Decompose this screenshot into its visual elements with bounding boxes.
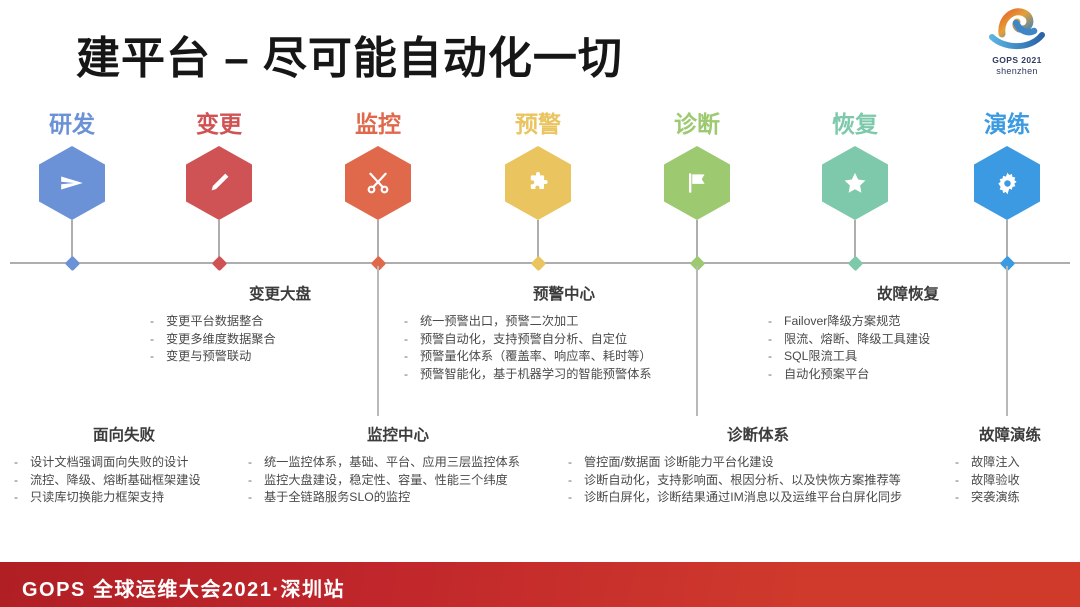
bullet-dash: - [568,472,584,490]
bullet-dash: - [404,348,420,366]
bullet-text: 管控面/数据面 诊断能力平台化建设 [584,454,774,472]
bullet-text: 故障注入 [971,454,1020,472]
timeline-label-2: 监控 [318,105,438,139]
bullet-dash: - [14,454,30,472]
timeline-hexagon-4[interactable] [664,146,730,220]
timeline-label-4: 诊断 [637,105,757,139]
block-title: 面向失败 [14,423,234,445]
bullet-dash: - [248,489,264,507]
logo-swirl-icon [986,4,1048,54]
bullet-dash: - [404,366,420,384]
bullet-dash: - [955,472,971,490]
bullet-dash: - [768,313,784,331]
bullet-item: -自动化预案平台 [768,366,1048,384]
block-title: 预警中心 [404,282,724,304]
bullet-text: 监控大盘建设，稳定性、容量、性能三个纬度 [264,472,508,490]
bullet-text: 预警量化体系（覆盖率、响应率、耗时等） [420,348,652,366]
upper-block-1: 预警中心 -统一预警出口，预警二次加工-预警自动化，支持预警自分析、自定位-预警… [404,282,724,383]
send-icon [59,170,85,196]
timeline-label-0: 研发 [12,105,132,139]
bullet-item: -故障注入 [955,454,1065,472]
bullet-item: -变更多维度数据聚合 [150,331,410,349]
bullet-item: -诊断自动化，支持影响面、根因分析、以及快恢方案推荐等 [568,472,948,490]
bullet-text: 只读库切换能力框架支持 [30,489,164,507]
bullet-item: -预警自动化，支持预警自分析、自定位 [404,331,724,349]
bullet-item: -限流、熔断、降级工具建设 [768,331,1048,349]
bullet-list: -管控面/数据面 诊断能力平台化建设-诊断自动化，支持影响面、根因分析、以及快恢… [568,454,948,507]
timeline-dot-3[interactable] [530,255,546,271]
bullet-item: -流控、降级、熔断基础框架建设 [14,472,234,490]
footer-bar: GOPS 全球运维大会2021·深圳站 [0,562,1080,607]
bullet-text: 诊断白屏化，诊断结果通过IM消息以及运维平台白屏化同步 [584,489,902,507]
bullet-item: -变更平台数据整合 [150,313,410,331]
timeline-hexagon-0[interactable] [39,146,105,220]
bullet-item: -监控大盘建设，稳定性、容量、性能三个纬度 [248,472,548,490]
footer-text: GOPS 全球运维大会2021·深圳站 [22,573,345,602]
lower-block-3: 故障演练 -故障注入-故障验收-突袭演练 [955,423,1065,507]
star-icon [842,170,868,196]
timeline-hexagon-3[interactable] [505,146,571,220]
logo-title: GOPS 2021 [982,55,1052,65]
timeline-label-3: 预警 [478,105,598,139]
bullet-text: 变更平台数据整合 [166,313,264,331]
block-title: 诊断体系 [568,423,948,445]
bullet-dash: - [14,472,30,490]
page-title: 建平台 – 尽可能自动化一切 [76,22,623,86]
bullet-dash: - [768,366,784,384]
bullet-list: -变更平台数据整合-变更多维度数据聚合-变更与预警联动 [150,313,410,366]
timeline-label-6: 演练 [947,105,1067,139]
timeline-hexagon-6[interactable] [974,146,1040,220]
logo-subtitle: shenzhen [982,66,1052,76]
bullet-item: -预警智能化，基于机器学习的智能预警体系 [404,366,724,384]
lower-block-1: 监控中心 -统一监控体系，基础、平台、应用三层监控体系-监控大盘建设，稳定性、容… [248,423,548,507]
bullet-dash: - [768,331,784,349]
gops-logo: GOPS 2021 shenzhen [982,4,1052,82]
bullet-text: SQL限流工具 [784,348,857,366]
bullet-item: -诊断白屏化，诊断结果通过IM消息以及运维平台白屏化同步 [568,489,948,507]
block-title: 变更大盘 [150,282,410,304]
timeline-dot-0[interactable] [64,255,80,271]
bullet-text: 变更与预警联动 [166,348,251,366]
upper-block-2: 故障恢复 -Failover降级方案规范-限流、熔断、降级工具建设-SQL限流工… [768,282,1048,383]
bullet-list: -设计文档强调面向失败的设计-流控、降级、熔断基础框架建设-只读库切换能力框架支… [14,454,234,507]
bullet-text: 诊断自动化，支持影响面、根因分析、以及快恢方案推荐等 [584,472,901,490]
bullet-text: 限流、熔断、降级工具建设 [784,331,930,349]
bullet-item: -设计文档强调面向失败的设计 [14,454,234,472]
bullet-dash: - [404,313,420,331]
bullet-text: 预警智能化，基于机器学习的智能预警体系 [420,366,652,384]
bullet-list: -故障注入-故障验收-突袭演练 [955,454,1065,507]
bullet-item: -故障验收 [955,472,1065,490]
bullet-text: 统一监控体系，基础、平台、应用三层监控体系 [264,454,520,472]
bullet-dash: - [955,454,971,472]
bullet-item: -基于全链路服务SLO的监控 [248,489,548,507]
bullet-dash: - [568,454,584,472]
flag-icon [684,170,710,196]
bullet-item: -变更与预警联动 [150,348,410,366]
block-title: 监控中心 [248,423,548,445]
scissors-icon [365,170,391,196]
bullet-text: 基于全链路服务SLO的监控 [264,489,410,507]
bullet-item: -SQL限流工具 [768,348,1048,366]
timeline-dot-1[interactable] [211,255,227,271]
bullet-text: 故障验收 [971,472,1020,490]
timeline-hexagon-5[interactable] [822,146,888,220]
bullet-dash: - [768,348,784,366]
bullet-dash: - [404,331,420,349]
timeline-hexagon-1[interactable] [186,146,252,220]
bullet-dash: - [248,454,264,472]
upper-block-0: 变更大盘 -变更平台数据整合-变更多维度数据聚合-变更与预警联动 [150,282,410,366]
bullet-dash: - [568,489,584,507]
gear-icon [995,171,1020,196]
timeline-label-5: 恢复 [795,105,915,139]
pencil-icon [206,170,232,196]
bullet-text: Failover降级方案规范 [784,313,900,331]
timeline-dot-5[interactable] [847,255,863,271]
timeline-hexagon-2[interactable] [345,146,411,220]
bullet-text: 流控、降级、熔断基础框架建设 [30,472,201,490]
puzzle-icon [526,171,550,195]
bullet-dash: - [150,313,166,331]
bullet-item: -管控面/数据面 诊断能力平台化建设 [568,454,948,472]
bullet-dash: - [150,331,166,349]
lower-block-0: 面向失败 -设计文档强调面向失败的设计-流控、降级、熔断基础框架建设-只读库切换… [14,423,234,507]
bullet-item: -只读库切换能力框架支持 [14,489,234,507]
bullet-item: -突袭演练 [955,489,1065,507]
slide-root: 建平台 – 尽可能自动化一切 [0,0,1080,607]
bullet-item: -统一监控体系，基础、平台、应用三层监控体系 [248,454,548,472]
bullet-dash: - [248,472,264,490]
block-title: 故障演练 [955,423,1065,445]
bullet-dash: - [955,489,971,507]
bullet-list: -Failover降级方案规范-限流、熔断、降级工具建设-SQL限流工具-自动化… [768,313,1048,383]
bullet-item: -统一预警出口，预警二次加工 [404,313,724,331]
bullet-text: 统一预警出口，预警二次加工 [420,313,578,331]
bullet-dash: - [150,348,166,366]
block-title: 故障恢复 [768,282,1048,304]
bullet-list: -统一监控体系，基础、平台、应用三层监控体系-监控大盘建设，稳定性、容量、性能三… [248,454,548,507]
bullet-text: 预警自动化，支持预警自分析、自定位 [420,331,627,349]
bullet-text: 突袭演练 [971,489,1020,507]
timeline-label-1: 变更 [159,105,279,139]
bullet-text: 自动化预案平台 [784,366,869,384]
bullet-item: -预警量化体系（覆盖率、响应率、耗时等） [404,348,724,366]
bullet-dash: - [14,489,30,507]
bullet-item: -Failover降级方案规范 [768,313,1048,331]
lower-block-2: 诊断体系 -管控面/数据面 诊断能力平台化建设-诊断自动化，支持影响面、根因分析… [568,423,948,507]
bullet-list: -统一预警出口，预警二次加工-预警自动化，支持预警自分析、自定位-预警量化体系（… [404,313,724,383]
bullet-text: 变更多维度数据聚合 [166,331,276,349]
bullet-text: 设计文档强调面向失败的设计 [30,454,188,472]
